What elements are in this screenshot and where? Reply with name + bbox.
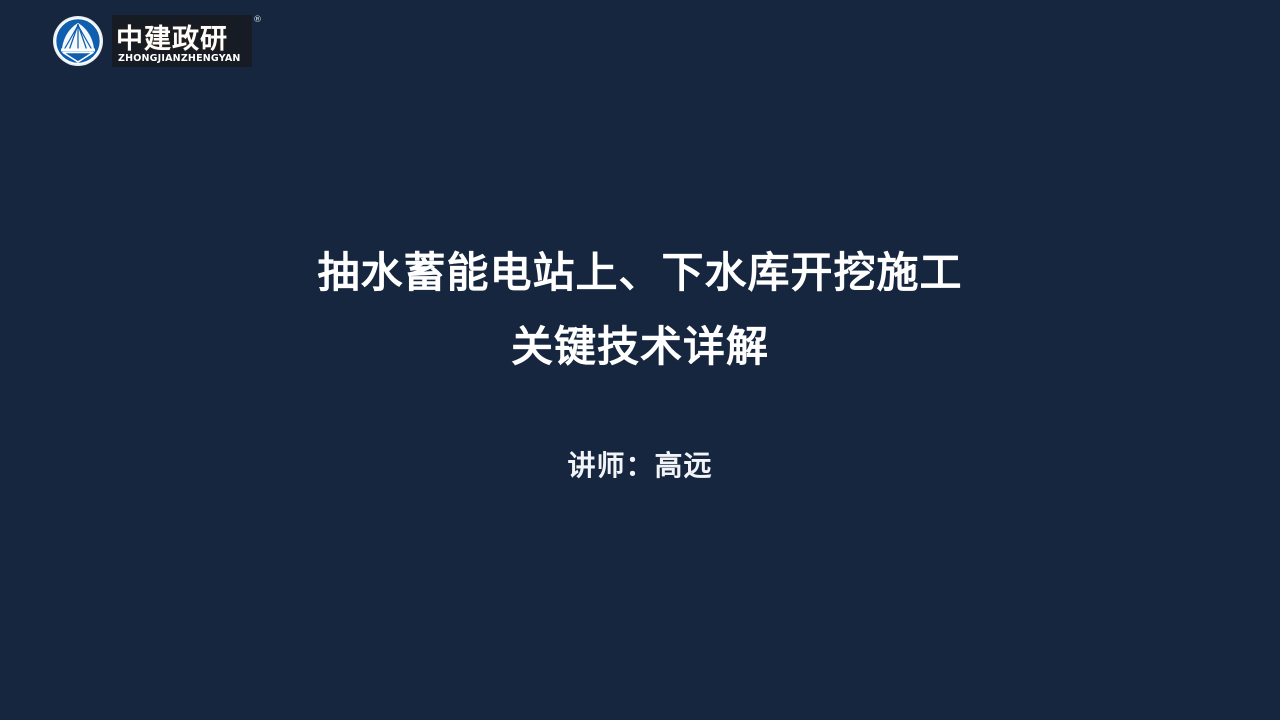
brand-wordmark: 中建政研 ZHONGJIANZHENGYAN ® xyxy=(112,15,252,67)
presenter-label: 讲师：高远 xyxy=(0,444,1280,488)
title-line-1: 抽水蓄能电站上、下水库开挖施工 xyxy=(0,236,1280,310)
bridge-arch-emblem-icon xyxy=(52,15,104,67)
title-line-2: 关键技术详解 xyxy=(0,310,1280,384)
title-slide: 中建政研 ZHONGJIANZHENGYAN ® 抽水蓄能电站上、下水库开挖施工… xyxy=(0,0,1280,720)
svg-text:ZHONGJIANZHENGYAN: ZHONGJIANZHENGYAN xyxy=(118,53,241,64)
brand-logo: 中建政研 ZHONGJIANZHENGYAN ® xyxy=(52,12,252,70)
page-title: 抽水蓄能电站上、下水库开挖施工 关键技术详解 xyxy=(0,236,1280,384)
svg-text:中建政研: 中建政研 xyxy=(116,24,228,55)
registered-trademark-icon: ® xyxy=(253,16,262,25)
